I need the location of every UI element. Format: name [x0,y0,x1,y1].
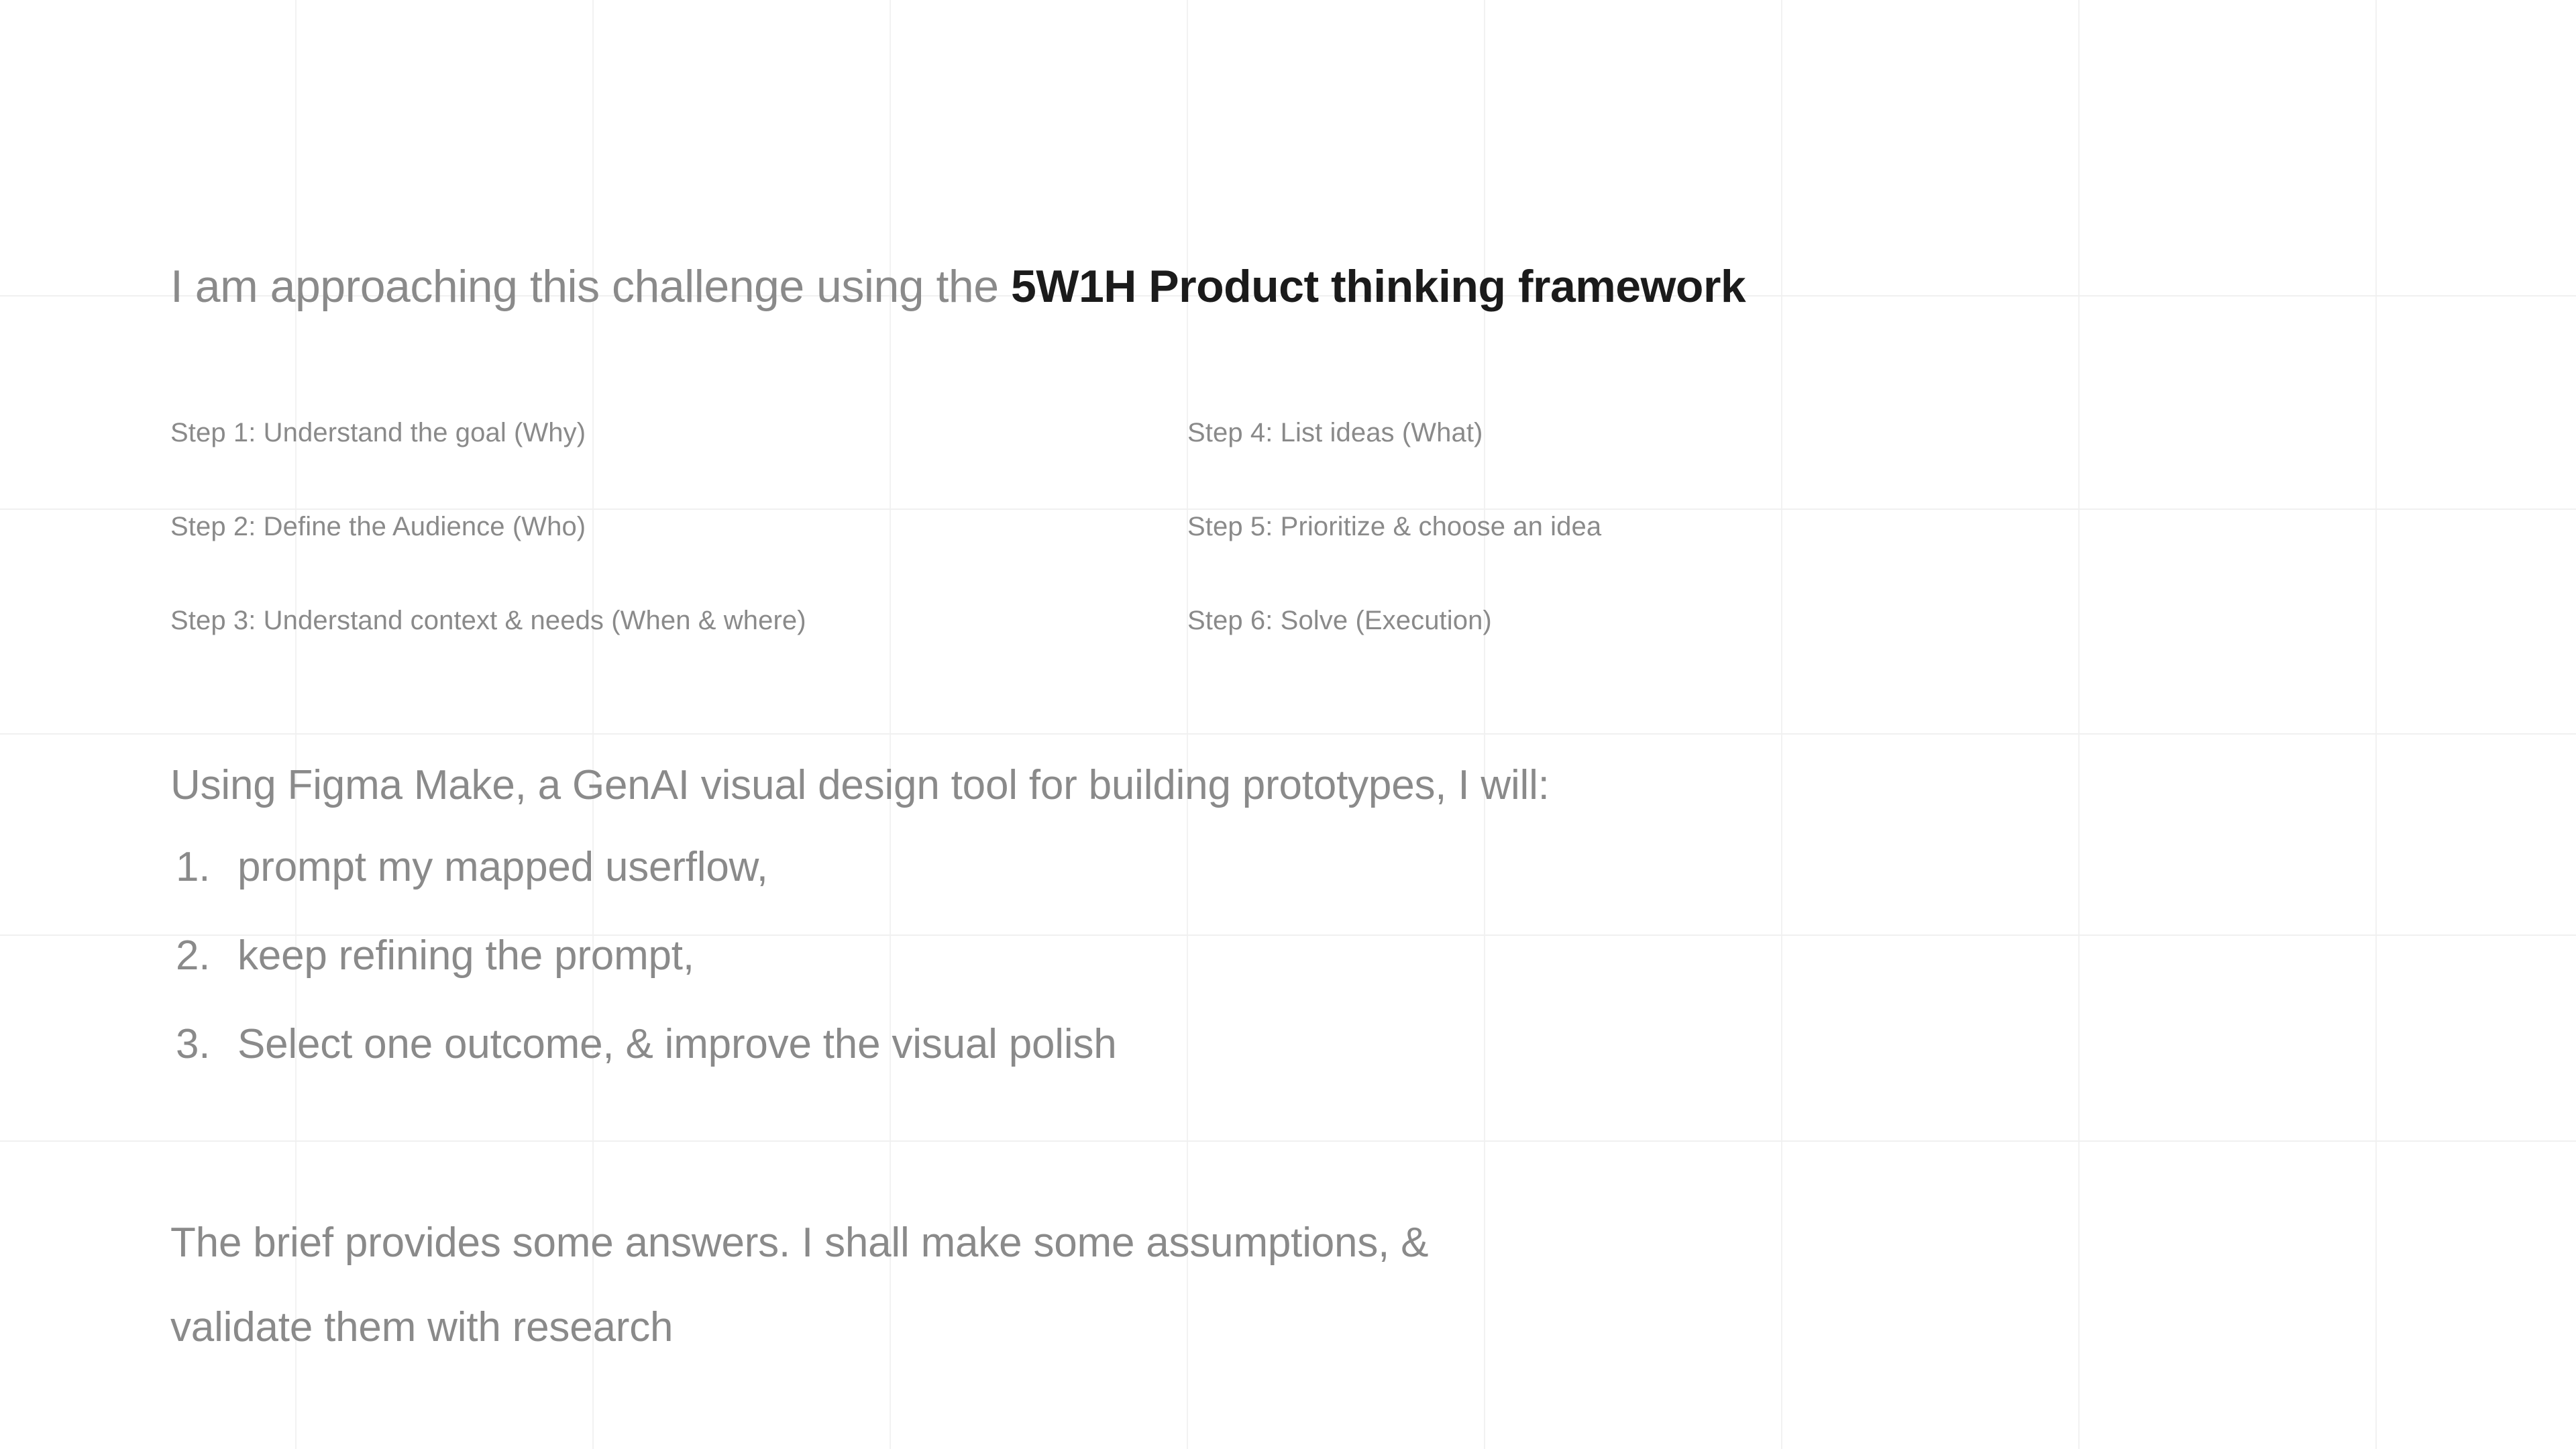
page-title: I am approaching this challenge using th… [170,262,1746,312]
framework-steps-grid: Step 1: Understand the goal (Why) Step 4… [170,419,1915,701]
list-item-label: keep refining the prompt, [237,935,694,977]
list-item: 2. keep refining the prompt, [176,935,1117,1024]
list-item-label: Select one outcome, & improve the visual… [237,1024,1117,1065]
framework-step-4: Step 4: List ideas (What) [1187,419,1915,446]
list-item: 1. prompt my mapped userflow, [176,847,1117,935]
framework-step-2: Step 2: Define the Audience (Who) [170,513,1187,540]
list-marker: 2. [176,935,237,977]
closing-note-line-2: validate them with research [170,1285,1713,1370]
framework-step-1: Step 1: Understand the goal (Why) [170,419,1187,446]
list-marker: 3. [176,1024,237,1065]
closing-note-line-1: The brief provides some answers. I shall… [170,1201,1713,1285]
list-item: 3. Select one outcome, & improve the vis… [176,1024,1117,1112]
framework-step-5: Step 5: Prioritize & choose an idea [1187,513,1915,540]
list-item-label: prompt my mapped userflow, [237,847,768,888]
figma-make-step-list: 1. prompt my mapped userflow, 2. keep re… [176,847,1117,1112]
figma-make-intro: Using Figma Make, a GenAI visual design … [170,765,1550,806]
framework-step-3: Step 3: Understand context & needs (When… [170,607,1187,634]
list-marker: 1. [176,847,237,888]
framework-step-6: Step 6: Solve (Execution) [1187,607,1915,634]
page-title-emphasis: 5W1H Product thinking framework [1011,261,1746,312]
slide-content: I am approaching this challenge using th… [0,0,2576,1449]
closing-note: The brief provides some answers. I shall… [170,1201,1713,1370]
page-title-lead: I am approaching this challenge using th… [170,261,1011,312]
